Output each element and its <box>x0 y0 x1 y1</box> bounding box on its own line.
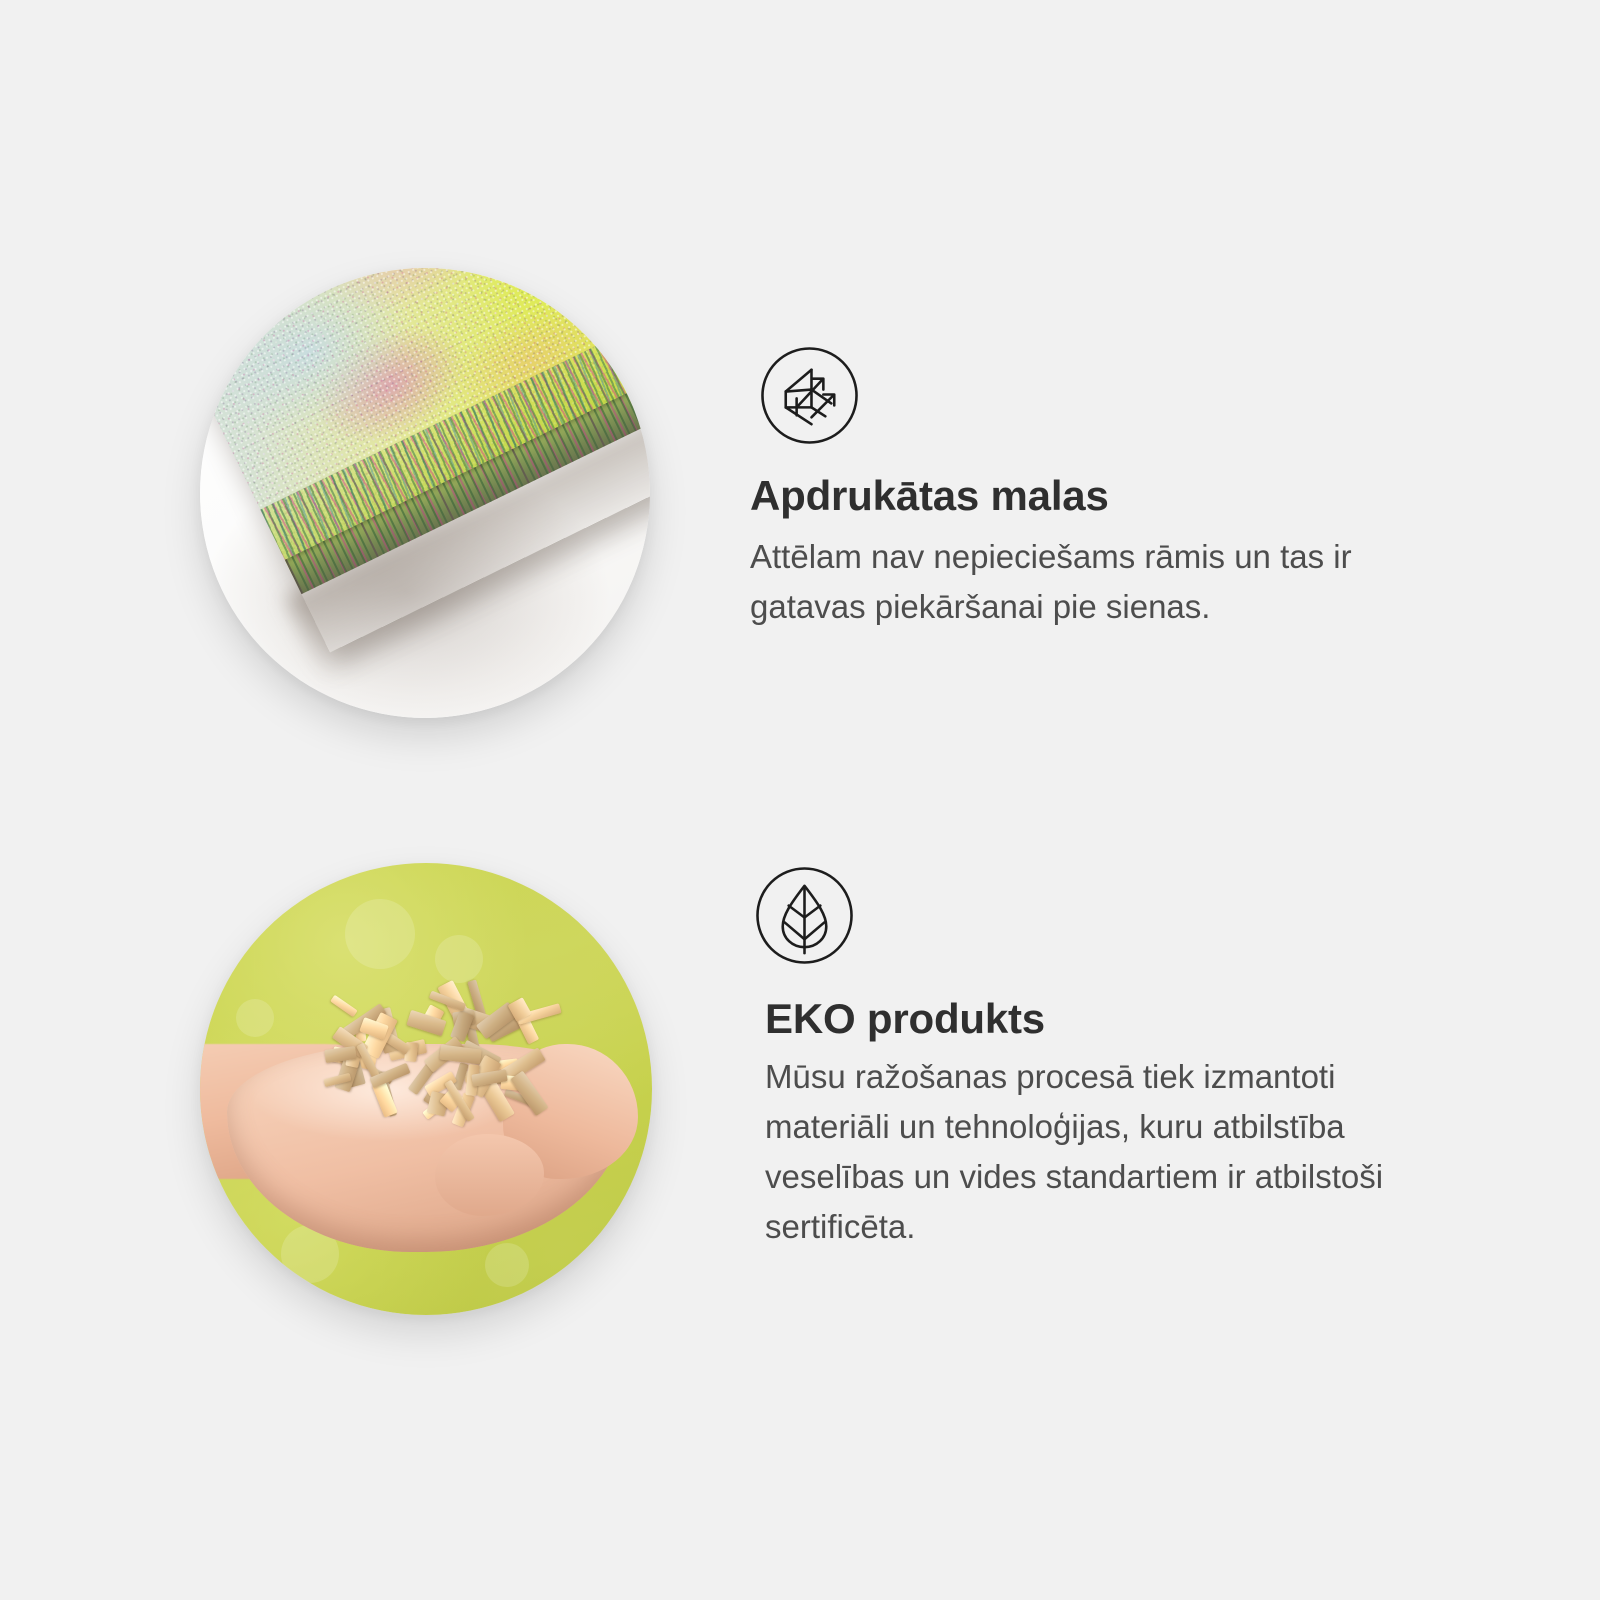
desc-line: veselības un vides standartiem ir atbils… <box>765 1152 1383 1202</box>
bokeh-highlight <box>435 935 483 983</box>
bokeh-highlight <box>345 899 415 969</box>
printed-edges-icon <box>760 346 859 445</box>
feature-description-printed-edges: Attēlam nav nepieciešams rāmis un tas ir… <box>750 532 1352 632</box>
wood-chips-in-hand-photo <box>200 863 652 1315</box>
desc-line: materiāli un tehnoloģijas, kuru atbilstī… <box>765 1102 1383 1152</box>
feature-title-eco-product: EKO produkts <box>765 995 1045 1043</box>
product-feature-infographic: Apdrukātas malas Attēlam nav nepieciešam… <box>0 0 1600 1600</box>
bokeh-highlight <box>236 999 274 1037</box>
feature-title-printed-edges: Apdrukātas malas <box>750 472 1109 520</box>
desc-line: Attēlam nav nepieciešams rāmis un tas ir <box>750 532 1352 582</box>
leaf-icon <box>755 866 854 965</box>
wood-chip-pile <box>318 994 571 1148</box>
canvas-edge-photo <box>200 268 650 718</box>
desc-line: Mūsu ražošanas procesā tiek izmantoti <box>765 1052 1383 1102</box>
desc-line: gatavas piekāršanai pie sienas. <box>750 582 1352 632</box>
desc-line: sertificēta. <box>765 1202 1383 1252</box>
feature-description-eco-product: Mūsu ražošanas procesā tiek izmantoti ma… <box>765 1052 1383 1252</box>
bokeh-highlight <box>485 1243 529 1287</box>
wood-chip <box>330 995 357 1017</box>
